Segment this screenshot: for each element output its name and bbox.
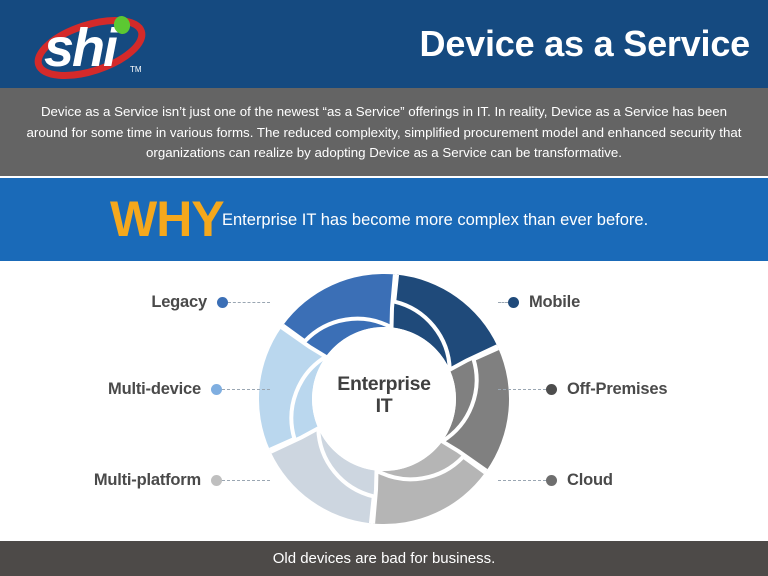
callout-mobile[interactable]: Mobile <box>498 293 698 312</box>
callout-legacy-label: Legacy <box>151 293 207 312</box>
callout-multi-platform[interactable]: Multi-platform <box>66 471 270 490</box>
callout-multi-device-dot <box>211 384 222 395</box>
why-subtitle: Enterprise IT has become more complex th… <box>222 208 648 232</box>
callout-off-premises[interactable]: Off-Premises <box>498 380 728 399</box>
why-heading: WHY <box>110 190 224 248</box>
callout-mobile-leader <box>498 302 508 303</box>
footer-band: Old devices are bad for business. <box>0 541 768 576</box>
intro-band: Device as a Service isn’t just one of th… <box>0 88 768 176</box>
logo-wordmark: shi <box>44 18 119 78</box>
slide-header: shi TM Device as a Service <box>0 0 768 88</box>
callout-multi-device-leader <box>222 389 270 390</box>
donut-center-line2: IT <box>309 395 459 417</box>
donut-chart-area: Enterprise IT Legacy Multi-device Multi-… <box>0 261 768 541</box>
callout-legacy-leader <box>228 302 270 303</box>
callout-multi-platform-leader <box>222 480 270 481</box>
slide-device-as-a-service: shi TM Device as a Service Device as a S… <box>0 0 768 576</box>
logo-trademark-mark: TM <box>130 65 142 74</box>
callout-cloud-label: Cloud <box>567 471 613 490</box>
callout-cloud[interactable]: Cloud <box>498 471 698 490</box>
callout-off-premises-dot <box>546 384 557 395</box>
callout-cloud-dot <box>546 475 557 486</box>
shi-logo: shi TM <box>26 10 154 82</box>
page-title: Device as a Service <box>300 23 750 65</box>
callout-legacy-dot <box>217 297 228 308</box>
why-band: WHY Enterprise IT has become more comple… <box>0 178 768 261</box>
footer-caption: Old devices are bad for business. <box>0 549 768 569</box>
donut-center-line1: Enterprise <box>309 373 459 395</box>
callout-off-premises-label: Off-Premises <box>567 380 667 399</box>
callout-multi-platform-label: Multi-platform <box>94 471 201 490</box>
callout-mobile-label: Mobile <box>529 293 580 312</box>
callout-mobile-dot <box>508 297 519 308</box>
svg-text:shi: shi <box>44 18 119 78</box>
callout-off-premises-leader <box>498 389 546 390</box>
callout-multi-device[interactable]: Multi-device <box>66 380 270 399</box>
callout-multi-device-label: Multi-device <box>108 380 201 399</box>
shi-logo-svg: shi TM <box>26 10 154 82</box>
callout-legacy[interactable]: Legacy <box>110 293 270 312</box>
intro-paragraph: Device as a Service isn’t just one of th… <box>26 102 742 164</box>
donut-center-label: Enterprise IT <box>309 373 459 417</box>
callout-cloud-leader <box>498 480 546 481</box>
callout-multi-platform-dot <box>211 475 222 486</box>
